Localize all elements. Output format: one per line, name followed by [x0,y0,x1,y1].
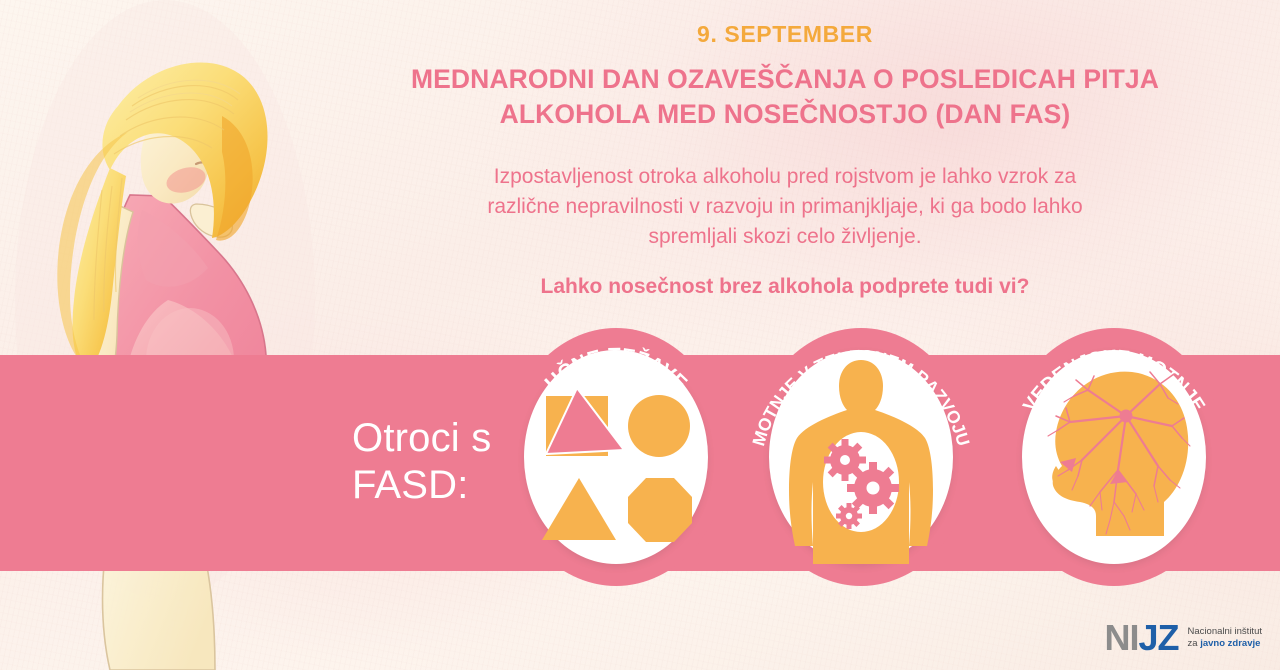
logo-wordmark-jz: JZ [1139,617,1179,658]
logo-tagline-line-2: za javno zdravje [1188,638,1262,650]
symptom-circle-ucne-tezave[interactable]: UČNE TEŽAVE [505,328,727,586]
call-to-action-text: Lahko nosečnost brez alkohola podprete t… [350,272,1220,301]
page-title-line-2: ALKOHOLA MED NOSEČNOSTJO (DAN FAS) [350,97,1220,132]
page-title: MEDNARODNI DAN OZAVEŠČANJA O POSLEDICAH … [350,62,1220,132]
symptom-circle-group: UČNE TEŽAVE MOTNJE V [0,328,1280,598]
logo-tagline: Nacionalni inštitut za javno zdravje [1188,626,1262,650]
headline-block: 9. SEPTEMBER MEDNARODNI DAN OZAVEŠČANJA … [350,22,1220,301]
page-title-line-1: MEDNARODNI DAN OZAVEŠČANJA O POSLEDICAH … [350,62,1220,97]
kicker-date: 9. SEPTEMBER [350,22,1220,47]
shapes-icon [524,350,708,564]
nijz-logo: NIJZ Nacionalni inštitut za javno zdravj… [1105,620,1262,656]
poster-canvas: 9. SEPTEMBER MEDNARODNI DAN OZAVEŠČANJA … [0,0,1280,670]
body-paragraph-line-3: spremljali skozi celo življenje. [350,222,1220,252]
body-paragraph-line-1: Izpostavljenost otroka alkoholu pred roj… [350,162,1220,192]
logo-tagline-prefix: za [1188,638,1201,649]
logo-tagline-bold: javno zdravje [1200,638,1260,649]
body-paragraph: Izpostavljenost otroka alkoholu pred roj… [350,162,1220,251]
logo-wordmark-ni: NI [1105,617,1139,658]
body-paragraph-line-2: različne nepravilnosti v razvoju in prim… [350,192,1220,222]
symptom-circle-telesni-razvoj[interactable]: MOTNJE V TELESNEM RAZVOJU [750,328,972,586]
logo-wordmark: NIJZ [1105,620,1179,656]
head-neuron-icon [1022,350,1206,564]
logo-tagline-line-1: Nacionalni inštitut [1188,626,1262,638]
symptom-circle-vedenjske-motnje[interactable]: VEDENJSKE MOTNJE [1003,328,1225,586]
body-gears-icon [769,350,953,564]
